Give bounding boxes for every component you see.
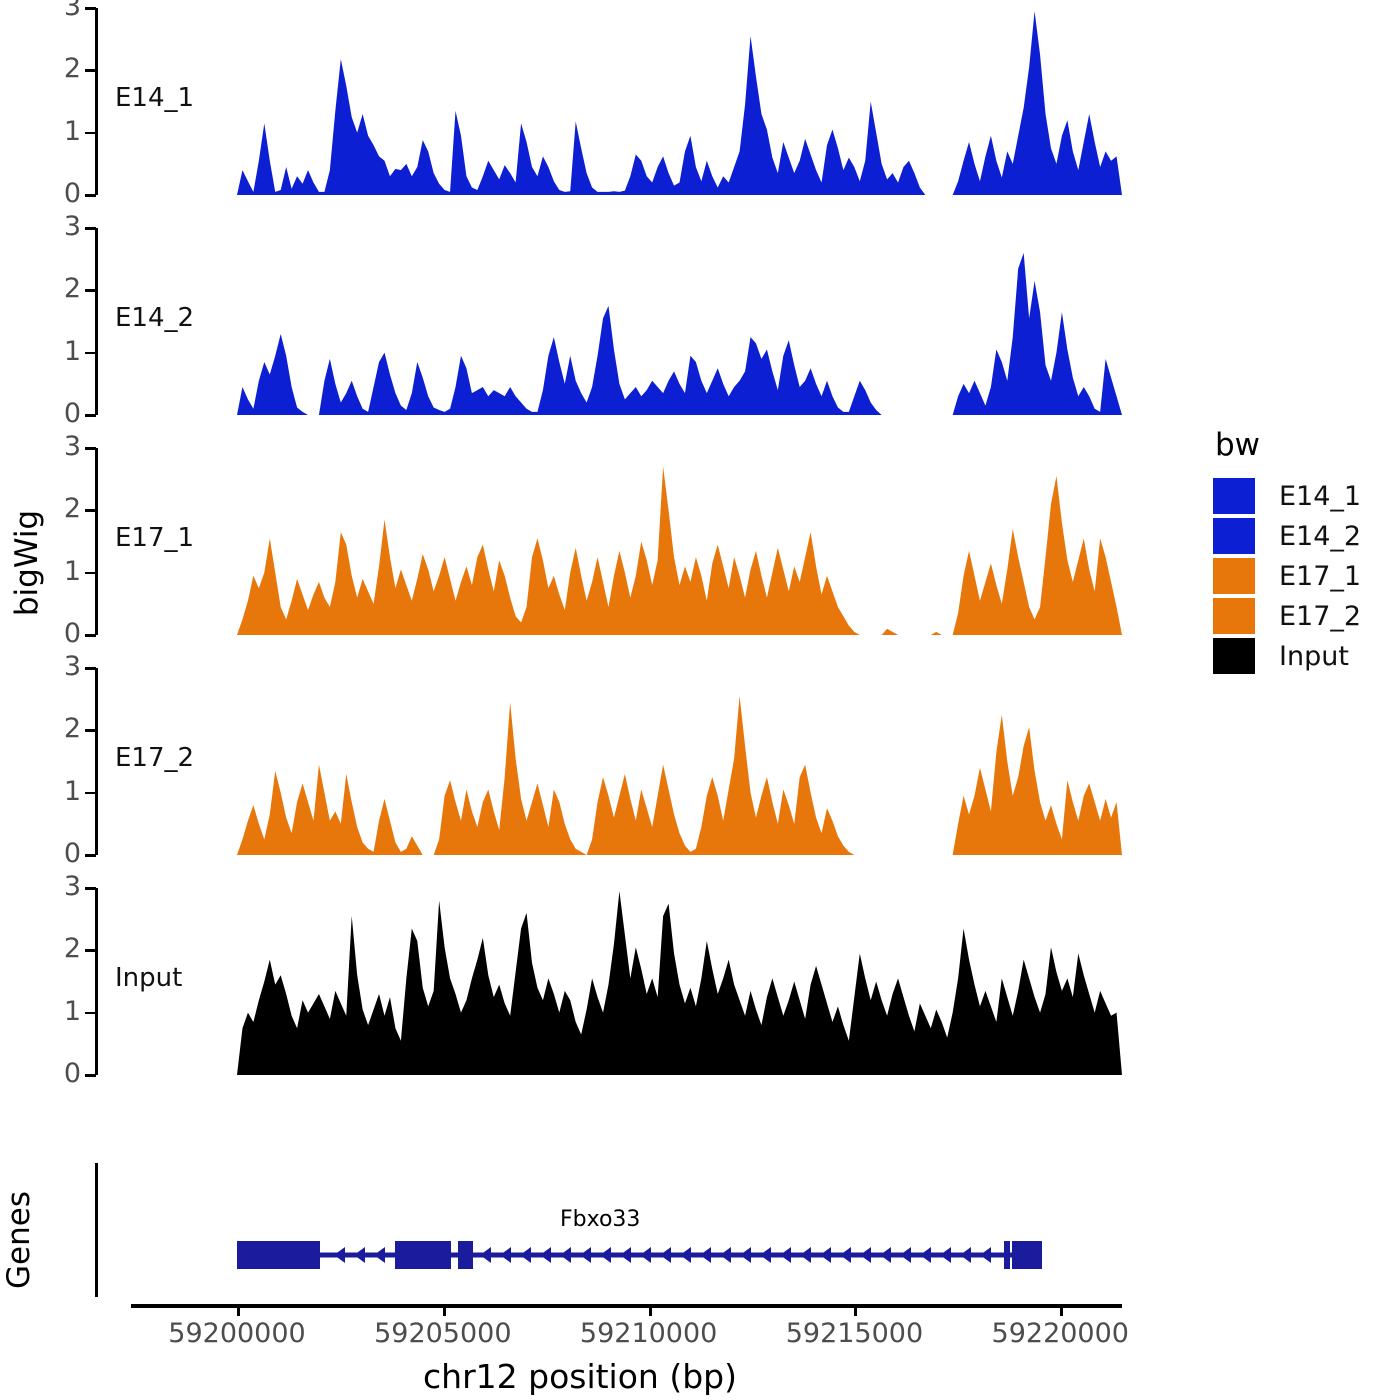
strand-arrow-left-icon bbox=[720, 1247, 731, 1263]
strand-arrow-left-icon bbox=[740, 1247, 751, 1263]
legend-item-e17_1[interactable]: E17_1 bbox=[1213, 557, 1393, 595]
gene-exon-4 bbox=[466, 1241, 473, 1269]
strand-arrow-left-icon bbox=[600, 1247, 611, 1263]
legend-item-input[interactable]: Input bbox=[1213, 637, 1393, 675]
legend: bw E14_1E14_2E17_1E17_2Input bbox=[1213, 430, 1393, 677]
legend-swatch-e14_2 bbox=[1213, 518, 1255, 554]
genes-track-panel: Fbxo33 bbox=[0, 1155, 1160, 1305]
x-tick-59210000 bbox=[649, 1304, 652, 1316]
bigwig-panel-e14_1: 0123E14_1 bbox=[0, 8, 1160, 235]
legend-label-e17_1: E17_1 bbox=[1279, 563, 1361, 590]
legend-swatch-e17_1 bbox=[1213, 558, 1255, 594]
legend-label-e14_1: E14_1 bbox=[1279, 483, 1361, 510]
strand-arrow-left-icon bbox=[580, 1247, 591, 1263]
legend-label-e17_2: E17_2 bbox=[1279, 603, 1361, 630]
strand-arrow-left-icon bbox=[374, 1247, 385, 1263]
bigwig-panel-e17_2: 0123E17_2 bbox=[0, 668, 1160, 895]
strand-arrow-left-icon bbox=[800, 1247, 811, 1263]
genes-axis-line bbox=[95, 1163, 98, 1297]
legend-swatch-e14_1 bbox=[1213, 478, 1255, 514]
legend-swatch-input bbox=[1213, 638, 1255, 674]
gene-exon-1 bbox=[237, 1241, 320, 1269]
strand-arrow-left-icon bbox=[980, 1247, 991, 1263]
x-tick-label-59210000: 59210000 bbox=[549, 1320, 749, 1347]
x-tick-59205000 bbox=[443, 1304, 446, 1316]
strand-arrow-left-icon bbox=[920, 1247, 931, 1263]
gene-exon-2 bbox=[395, 1241, 451, 1269]
bigwig-panel-input: 0123Input bbox=[0, 888, 1160, 1115]
legend-label-input: Input bbox=[1279, 643, 1349, 670]
strand-arrow-left-icon bbox=[900, 1247, 911, 1263]
bigwig-panel-e14_2: 0123E14_2 bbox=[0, 228, 1160, 455]
x-axis-title: chr12 position (bp) bbox=[0, 1360, 1160, 1393]
legend-item-e14_2[interactable]: E14_2 bbox=[1213, 517, 1393, 555]
x-tick-label-59200000: 59200000 bbox=[137, 1320, 337, 1347]
x-axis: 5920000059205000592100005921500059220000… bbox=[0, 1300, 1200, 1400]
gene-exon-6 bbox=[1012, 1241, 1042, 1269]
strand-arrow-left-icon bbox=[880, 1247, 891, 1263]
strand-arrow-left-icon bbox=[960, 1247, 971, 1263]
track-area-e14_2 bbox=[0, 228, 1160, 415]
legend-swatch-e17_2 bbox=[1213, 598, 1255, 634]
strand-arrow-left-icon bbox=[620, 1247, 631, 1263]
x-tick-label-59215000: 59215000 bbox=[754, 1320, 954, 1347]
strand-arrow-left-icon bbox=[640, 1247, 651, 1263]
strand-arrow-left-icon bbox=[520, 1247, 531, 1263]
gene-exon-3 bbox=[458, 1241, 466, 1269]
strand-arrow-left-icon bbox=[760, 1247, 771, 1263]
track-area-e17_1 bbox=[0, 448, 1160, 635]
track-area-e17_2 bbox=[0, 668, 1160, 855]
legend-item-list: E14_1E14_2E17_1E17_2Input bbox=[1213, 477, 1393, 675]
x-tick-59220000 bbox=[1060, 1304, 1063, 1316]
track-area-input bbox=[0, 888, 1160, 1075]
strand-arrow-left-icon bbox=[840, 1247, 851, 1263]
legend-label-e14_2: E14_2 bbox=[1279, 523, 1361, 550]
x-axis-line bbox=[131, 1304, 1122, 1308]
strand-arrow-left-icon bbox=[500, 1247, 511, 1263]
strand-arrow-left-icon bbox=[354, 1247, 365, 1263]
strand-arrow-left-icon bbox=[540, 1247, 551, 1263]
x-tick-label-59220000: 59220000 bbox=[960, 1320, 1160, 1347]
strand-arrow-left-icon bbox=[940, 1247, 951, 1263]
bigwig-panel-e17_1: 0123E17_1 bbox=[0, 448, 1160, 675]
strand-arrow-left-icon bbox=[334, 1247, 345, 1263]
strand-arrow-left-icon bbox=[820, 1247, 831, 1263]
strand-arrow-left-icon bbox=[480, 1247, 491, 1263]
legend-item-e14_1[interactable]: E14_1 bbox=[1213, 477, 1393, 515]
strand-arrow-left-icon bbox=[700, 1247, 711, 1263]
track-area-e14_1 bbox=[0, 8, 1160, 195]
legend-item-e17_2[interactable]: E17_2 bbox=[1213, 597, 1393, 635]
x-tick-59200000 bbox=[237, 1304, 240, 1316]
legend-title: bw bbox=[1215, 430, 1393, 461]
x-tick-59215000 bbox=[854, 1304, 857, 1316]
x-tick-label-59205000: 59205000 bbox=[343, 1320, 543, 1347]
strand-arrow-left-icon bbox=[680, 1247, 691, 1263]
gene-exon-5 bbox=[1004, 1241, 1010, 1269]
strand-arrow-left-icon bbox=[780, 1247, 791, 1263]
strand-arrow-left-icon bbox=[860, 1247, 871, 1263]
gene-name-label: Fbxo33 bbox=[560, 1207, 640, 1232]
strand-arrow-left-icon bbox=[660, 1247, 671, 1263]
strand-arrow-left-icon bbox=[560, 1247, 571, 1263]
